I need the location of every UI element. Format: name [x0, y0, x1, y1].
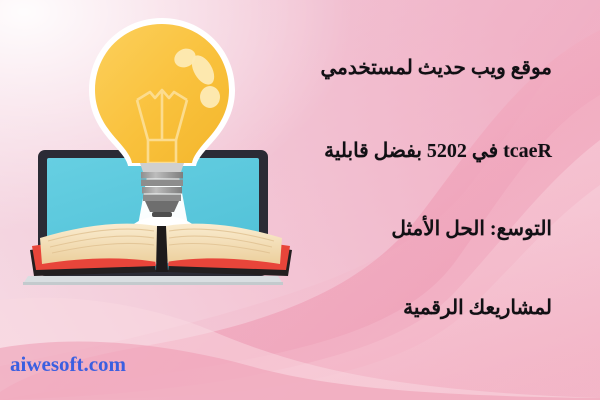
banner-canvas: موقع ويب حديث لمستخدمي React في 2025 بفض… — [0, 0, 600, 400]
watermark-text: aiwesoft.com — [10, 352, 126, 377]
watermark-layer: aiwesoft.com — [0, 0, 600, 400]
